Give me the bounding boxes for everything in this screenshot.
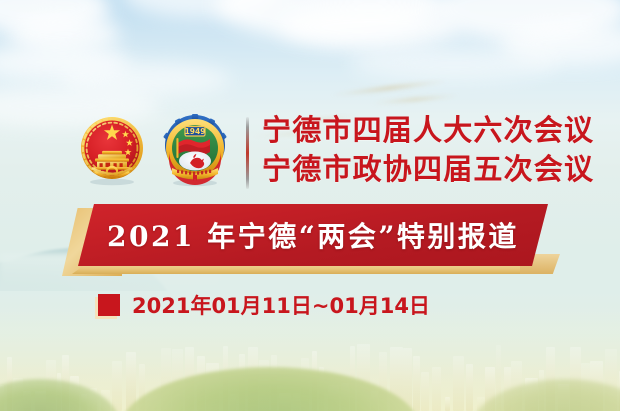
cloud-shape — [60, 62, 230, 96]
sky-streak — [370, 94, 460, 105]
headline-line-1: 宁德市四届人大六次会议 — [262, 112, 594, 149]
cloud-shape — [0, 0, 110, 36]
banner-body: 2021 年宁德“两会”特别报道 — [78, 204, 548, 266]
red-square-marker-icon — [98, 294, 120, 316]
cloud-shape — [120, 0, 280, 18]
emblem-group: 1949 — [78, 113, 230, 192]
cloud-shape — [0, 44, 130, 80]
svg-text:1949: 1949 — [185, 127, 206, 136]
red-banner-ribbon: 2021 年宁德“两会”特别报道 — [0, 198, 620, 284]
vertical-divider — [246, 117, 249, 189]
cloud-shape — [215, 0, 445, 40]
cloud-shape — [350, 46, 560, 80]
cloud-shape — [10, 14, 120, 54]
sky-streak — [330, 79, 450, 98]
date-row: 2021年01月11日~01月14日 — [98, 290, 430, 320]
date-range-text: 2021年01月11日~01月14日 — [132, 290, 430, 320]
national-emblem-of-china-icon — [78, 114, 146, 191]
banner-title: 2021 年宁德“两会”特别报道 — [107, 215, 519, 255]
cppcc-emblem-icon: 1949 — [160, 113, 230, 192]
cloud-shape — [500, 22, 620, 66]
headline-group: 宁德市四届人大六次会议 宁德市政协四届五次会议 — [262, 112, 594, 188]
headline-line-2: 宁德市政协四届五次会议 — [262, 151, 594, 188]
cloud-shape — [430, 0, 620, 42]
cloud-shape — [280, 4, 460, 50]
two-sessions-poster: 1949 — [0, 0, 620, 411]
marker-square — [98, 294, 120, 316]
